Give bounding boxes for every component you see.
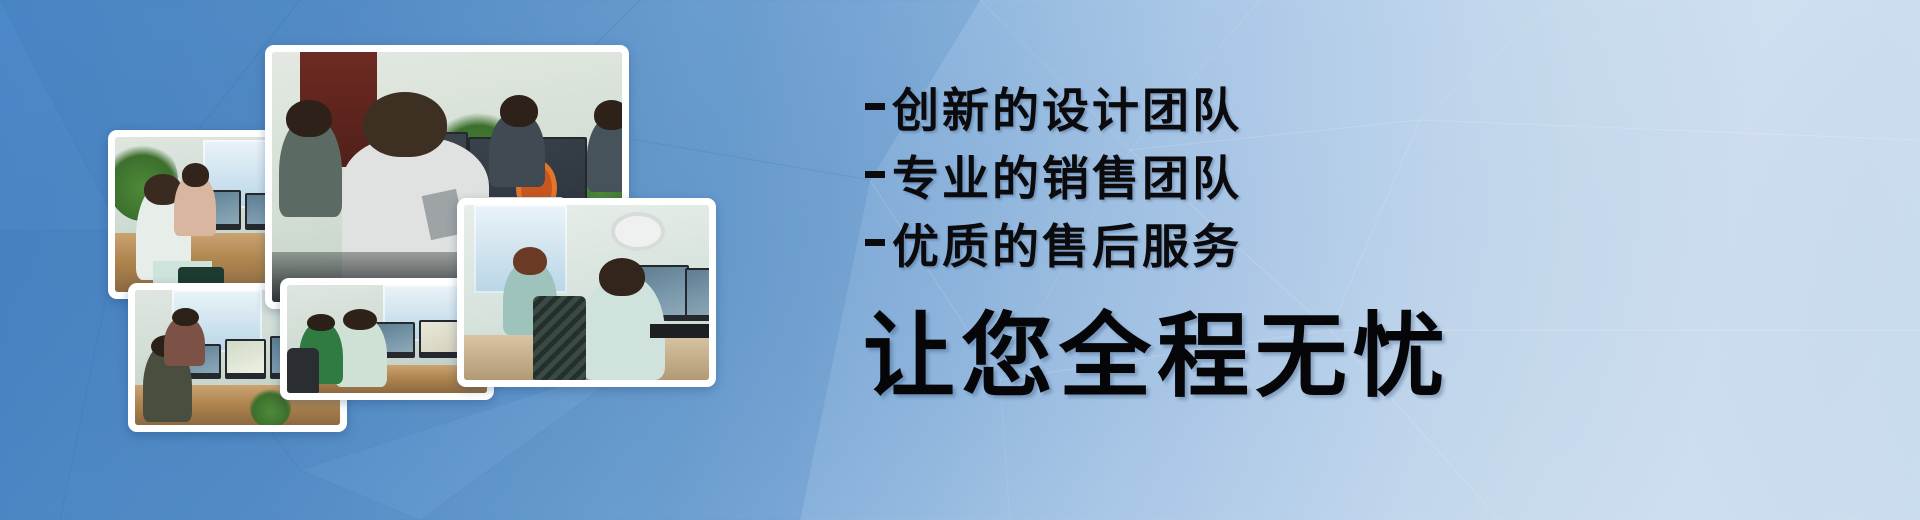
bullet-item-2: 专业的销售团队 [865,140,1242,208]
photo-office-right [457,198,716,387]
bullet-dash-icon [865,171,885,178]
bullet-item-3: 优质的售后服务 [865,208,1242,276]
bullet-text-1: 创新的设计团队 [892,72,1242,141]
bullet-text-3: 优质的售后服务 [892,208,1242,277]
headline: 让您全程无忧 [863,282,1451,415]
bullet-dash-icon [865,239,885,246]
bullet-list: 创新的设计团队 专业的销售团队 优质的售后服务 [865,72,1242,276]
bullet-item-1: 创新的设计团队 [865,72,1242,140]
promo-banner: 创新的设计团队 专业的销售团队 优质的售后服务 让您全程无忧 [0,0,1920,520]
bullet-text-2: 专业的销售团队 [892,140,1242,209]
photo-collage [0,0,780,520]
bullet-dash-icon [865,103,885,110]
text-block: 创新的设计团队 专业的销售团队 优质的售后服务 让您全程无忧 [855,0,1855,520]
